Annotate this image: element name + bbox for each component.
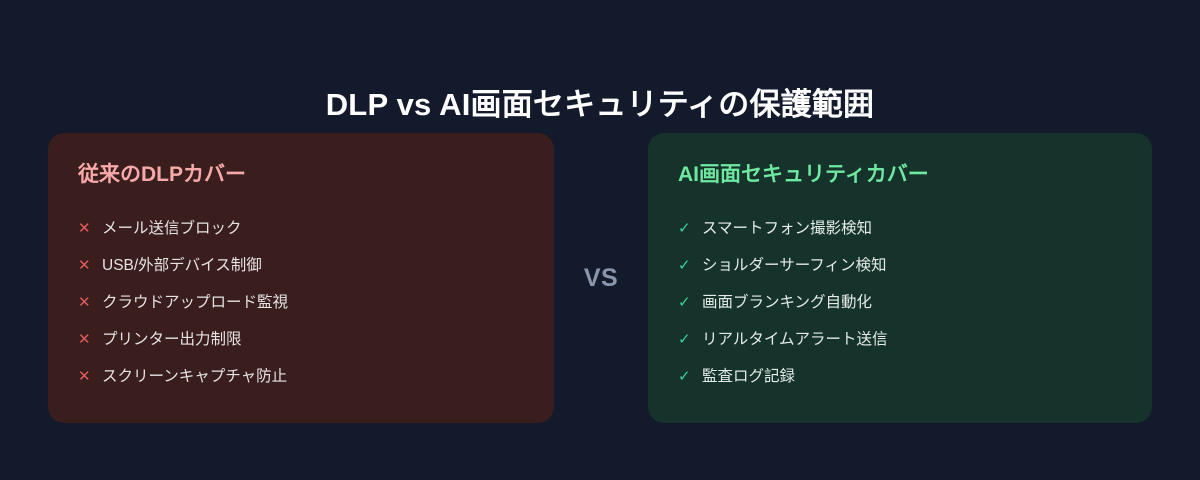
check-icon: ✓ <box>678 247 702 284</box>
dlp-feature-list: ✕ メール送信ブロック ✕ USB/外部デバイス制御 ✕ クラウドアップロード監… <box>78 210 524 395</box>
cross-icon: ✕ <box>78 321 102 358</box>
list-item: ✓ 画面ブランキング自動化 <box>678 284 1122 321</box>
page-title: DLP vs AI画面セキュリティの保護範囲 <box>0 83 1200 127</box>
ai-feature-list: ✓ スマートフォン撮影検知 ✓ ショルダーサーフィン検知 ✓ 画面ブランキング自… <box>678 210 1122 395</box>
check-icon: ✓ <box>678 358 702 395</box>
list-item-label: 監査ログ記録 <box>702 358 795 395</box>
list-item-label: リアルタイムアラート送信 <box>702 321 888 358</box>
vs-divider-label: VS <box>554 133 648 423</box>
list-item-label: ショルダーサーフィン検知 <box>702 247 886 284</box>
list-item-label: USB/外部デバイス制御 <box>102 247 262 284</box>
list-item-label: クラウドアップロード監視 <box>102 284 288 321</box>
list-item-label: プリンター出力制限 <box>102 321 242 358</box>
check-icon: ✓ <box>678 210 702 247</box>
list-item: ✕ メール送信ブロック <box>78 210 524 247</box>
dlp-coverage-card: 従来のDLPカバー ✕ メール送信ブロック ✕ USB/外部デバイス制御 ✕ ク… <box>48 133 554 423</box>
list-item-label: 画面ブランキング自動化 <box>702 284 872 321</box>
list-item: ✓ スマートフォン撮影検知 <box>678 210 1122 247</box>
list-item: ✕ クラウドアップロード監視 <box>78 284 524 321</box>
cross-icon: ✕ <box>78 284 102 321</box>
cross-icon: ✕ <box>78 247 102 284</box>
ai-card-title: AI画面セキュリティカバー <box>678 161 1122 189</box>
list-item: ✕ スクリーンキャプチャ防止 <box>78 358 524 395</box>
ai-screen-security-card: AI画面セキュリティカバー ✓ スマートフォン撮影検知 ✓ ショルダーサーフィン… <box>648 133 1152 423</box>
cross-icon: ✕ <box>78 210 102 247</box>
dlp-card-title: 従来のDLPカバー <box>78 161 524 189</box>
list-item-label: スクリーンキャプチャ防止 <box>102 358 287 395</box>
check-icon: ✓ <box>678 284 702 321</box>
list-item: ✓ 監査ログ記録 <box>678 358 1122 395</box>
list-item: ✕ プリンター出力制限 <box>78 321 524 358</box>
list-item: ✕ USB/外部デバイス制御 <box>78 247 524 284</box>
cross-icon: ✕ <box>78 358 102 395</box>
list-item: ✓ リアルタイムアラート送信 <box>678 321 1122 358</box>
comparison-container: 従来のDLPカバー ✕ メール送信ブロック ✕ USB/外部デバイス制御 ✕ ク… <box>48 133 1152 423</box>
list-item: ✓ ショルダーサーフィン検知 <box>678 247 1122 284</box>
list-item-label: スマートフォン撮影検知 <box>702 210 872 247</box>
list-item-label: メール送信ブロック <box>102 210 242 247</box>
check-icon: ✓ <box>678 321 702 358</box>
